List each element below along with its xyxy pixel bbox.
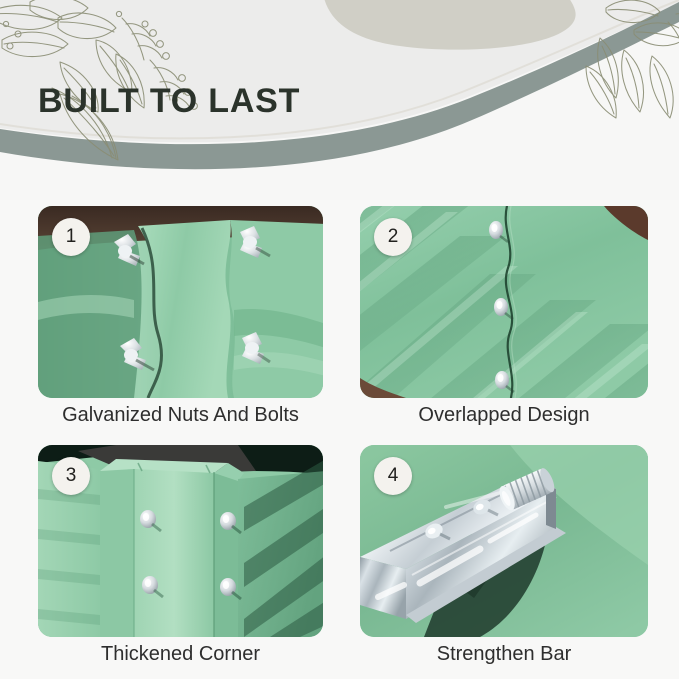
header-banner: BUILT TO LAST bbox=[0, 0, 679, 200]
feature-card-3[interactable]: 3 Thickened Corner bbox=[38, 445, 338, 677]
feature-caption-2: Overlapped Design bbox=[360, 404, 648, 427]
feature-image-1: 1 bbox=[38, 206, 323, 398]
feature-badge-2: 2 bbox=[374, 218, 412, 256]
feature-image-3: 3 bbox=[38, 445, 323, 637]
feature-caption-4: Strengthen Bar bbox=[360, 643, 648, 666]
feature-badge-3: 3 bbox=[52, 457, 90, 495]
feature-caption-1: Galvanized Nuts And Bolts bbox=[38, 404, 323, 427]
infographic-page: BUILT TO LAST bbox=[0, 0, 679, 679]
feature-image-4: 4 bbox=[360, 445, 648, 637]
page-title: BUILT TO LAST bbox=[38, 82, 300, 121]
feature-card-1[interactable]: 1 Galvanized Nuts And Bolts bbox=[38, 206, 338, 438]
feature-badge-4: 4 bbox=[374, 457, 412, 495]
feature-badge-1: 1 bbox=[52, 218, 90, 256]
feature-card-2[interactable]: 2 Overlapped Design bbox=[360, 206, 660, 438]
feature-caption-3: Thickened Corner bbox=[38, 643, 323, 666]
feature-card-4[interactable]: 4 Strengthen Bar bbox=[360, 445, 660, 677]
feature-image-2: 2 bbox=[360, 206, 648, 398]
feature-grid: 1 Galvanized Nuts And Bolts bbox=[0, 200, 679, 679]
